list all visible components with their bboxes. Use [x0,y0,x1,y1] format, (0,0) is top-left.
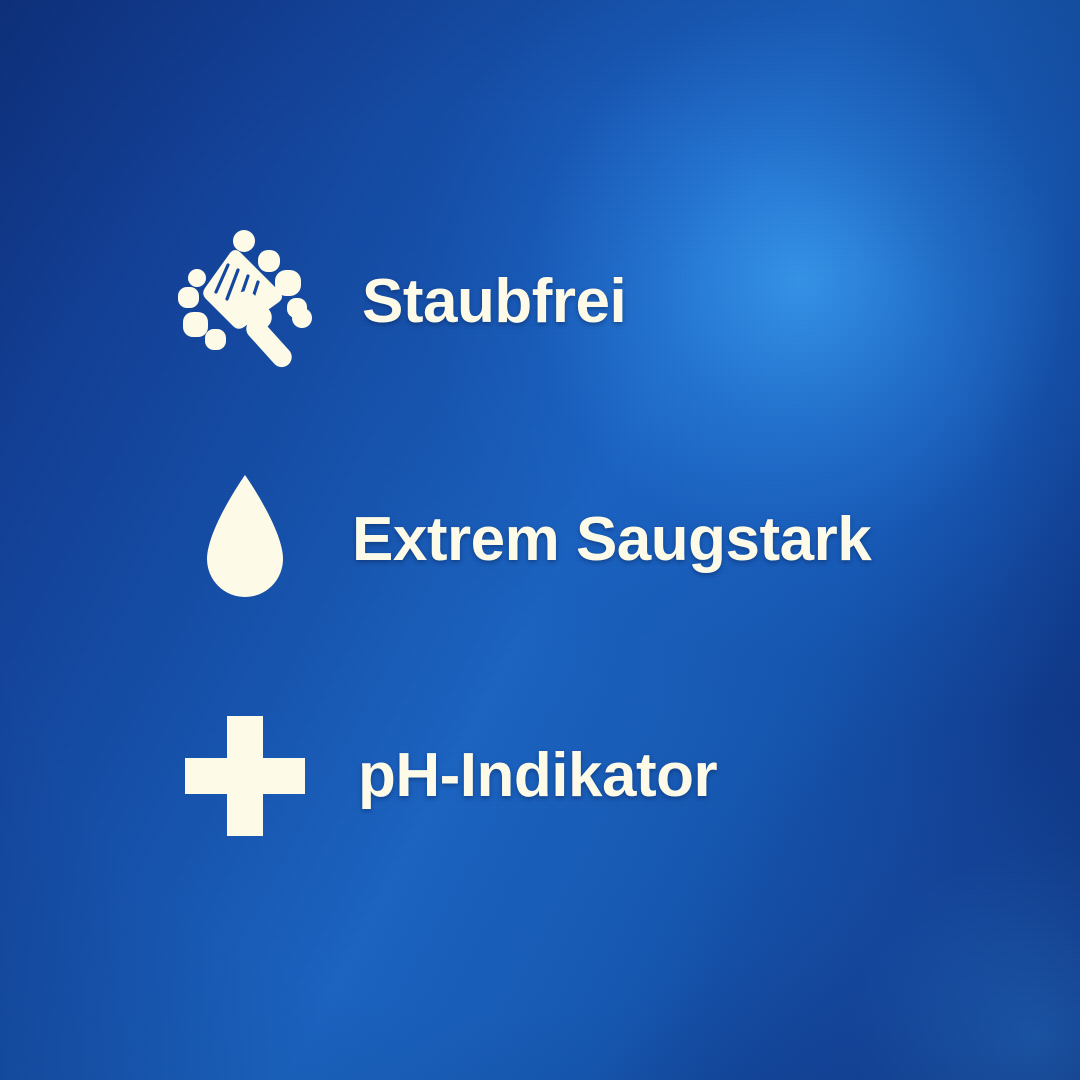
feature-graphic: Staubfrei Extrem Saugstark pH-Indikator [0,0,1080,1080]
dust-brush-icon [160,227,330,377]
feature-label-extrem-saugstark: Extrem Saugstark [352,509,871,571]
feature-item-ph-indikator: pH-Indikator [160,696,717,856]
feature-item-extrem-saugstark: Extrem Saugstark [160,460,871,620]
water-droplet-icon [160,465,330,615]
feature-label-ph-indikator: pH-Indikator [358,745,717,807]
feature-label-staubfrei: Staubfrei [362,271,626,333]
feature-list: Staubfrei Extrem Saugstark pH-Indikator [0,0,1080,1080]
feature-item-staubfrei: Staubfrei [160,222,626,382]
plus-cross-icon [160,701,330,851]
